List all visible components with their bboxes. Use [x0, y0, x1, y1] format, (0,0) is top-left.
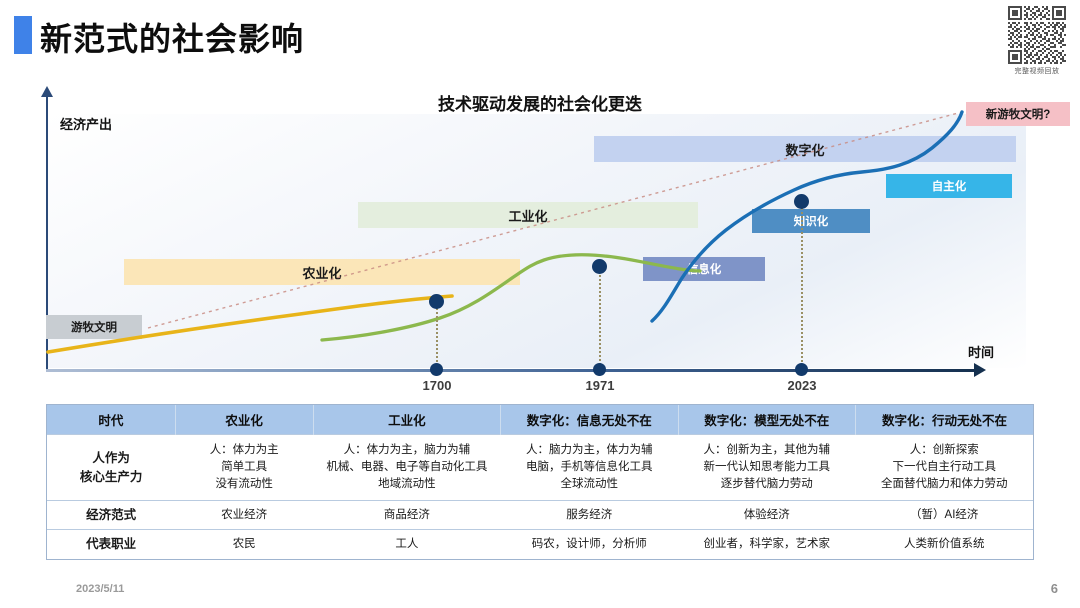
cell-line: 下一代自主行动工具: [858, 459, 1030, 476]
qr-caption: 完整视频回放: [1006, 66, 1068, 76]
table-row: 代表职业 农民 工人 码农，设计师，分析师 创业者，科学家，艺术家 人类新价值系…: [47, 530, 1033, 559]
cell-line: 电脑，手机等信息化工具: [504, 459, 675, 476]
dropper-1971: [599, 266, 601, 369]
table-header-digital-model: 数字化：模型无处不在: [678, 405, 855, 435]
cell-line: 人：体力为主，脑力为辅: [316, 442, 497, 459]
cell-line: 新一代认知思考能力工具: [681, 459, 852, 476]
cell-occupation-digital-info: 码农，设计师，分析师: [501, 530, 678, 559]
curve-dot-2023: [794, 194, 809, 209]
cell-productivity-agriculture: 人：体力为主 简单工具 没有流动性: [175, 435, 313, 501]
table-header-digital-info: 数字化：信息无处不在: [501, 405, 678, 435]
table-header-agriculture: 农业化: [175, 405, 313, 435]
row-label-economic-paradigm: 经济范式: [47, 501, 175, 530]
row-label-line1: 人作为: [50, 449, 172, 467]
cell-paradigm-digital-info: 服务经济: [501, 501, 678, 530]
cell-line: 人：体力为主: [178, 442, 310, 459]
axis-dot-2023[interactable]: [795, 363, 808, 376]
cell-line: 全球流动性: [504, 476, 675, 493]
row-label-representative-occupation: 代表职业: [47, 530, 175, 559]
comparison-table: 时代 农业化 工业化 数字化：信息无处不在 数字化：模型无处不在 数字化：行动无…: [46, 404, 1034, 560]
footer-page-number: 6: [1051, 581, 1058, 596]
cell-line: 人：创新探索: [858, 442, 1030, 459]
footer-divider: [0, 576, 1080, 577]
x-tick-1700: 1700: [423, 378, 452, 393]
cell-productivity-industrial: 人：体力为主，脑力为辅 机械、电器、电子等自动化工具 地域流动性: [313, 435, 500, 501]
axis-dot-1700[interactable]: [430, 363, 443, 376]
curve-dot-1700: [429, 294, 444, 309]
table-header-industrial: 工业化: [313, 405, 500, 435]
cell-occupation-industrial: 工人: [313, 530, 500, 559]
cell-line: 全面替代脑力和体力劳动: [858, 476, 1030, 493]
cell-paradigm-agriculture: 农业经济: [175, 501, 313, 530]
cell-line: 地域流动性: [316, 476, 497, 493]
row-label-line2: 核心生产力: [50, 468, 172, 486]
x-tick-2023: 2023: [788, 378, 817, 393]
page-title: 新范式的社会影响: [40, 14, 304, 60]
cell-line: 人：创新为主，其他为辅: [681, 442, 852, 459]
cell-line: 机械、电器、电子等自动化工具: [316, 459, 497, 476]
cell-line: 没有流动性: [178, 476, 310, 493]
cell-paradigm-industrial: 商品经济: [313, 501, 500, 530]
title-accent-bar: [14, 16, 32, 54]
table-header-row: 时代 农业化 工业化 数字化：信息无处不在 数字化：模型无处不在 数字化：行动无…: [47, 405, 1033, 435]
row-label-core-productivity: 人作为 核心生产力: [47, 435, 175, 501]
cell-line: 人：脑力为主，体力为辅: [504, 442, 675, 459]
cell-line: 简单工具: [178, 459, 310, 476]
cell-occupation-agriculture: 农民: [175, 530, 313, 559]
footer-date: 2023/5/11: [76, 583, 124, 595]
cell-occupation-digital-model: 创业者，科学家，艺术家: [678, 530, 855, 559]
dropper-1700: [436, 301, 438, 369]
dropper-2023: [801, 201, 803, 369]
table-header-era: 时代: [47, 405, 175, 435]
chart-curves: [0, 78, 1080, 398]
cell-productivity-digital-action: 人：创新探索 下一代自主行动工具 全面替代脑力和体力劳动: [855, 435, 1033, 501]
axis-dot-1971[interactable]: [593, 363, 606, 376]
table-row: 经济范式 农业经济 商品经济 服务经济 体验经济 （暂）AI经济: [47, 501, 1033, 530]
cell-paradigm-digital-action: （暂）AI经济: [855, 501, 1033, 530]
x-tick-1971: 1971: [586, 378, 615, 393]
cell-paradigm-digital-model: 体验经济: [678, 501, 855, 530]
cell-line: 逐步替代脑力劳动: [681, 476, 852, 493]
cell-productivity-digital-model: 人：创新为主，其他为辅 新一代认知思考能力工具 逐步替代脑力劳动: [678, 435, 855, 501]
qr-code-icon[interactable]: [1008, 6, 1066, 64]
chart-region: 技术驱动发展的社会化更迭 经济产出 时间 农业化 工业化 数字化 游牧文明 信息…: [0, 78, 1080, 398]
curve-dot-1971: [592, 259, 607, 274]
cell-productivity-digital-info: 人：脑力为主，体力为辅 电脑，手机等信息化工具 全球流动性: [501, 435, 678, 501]
slide-header: 新范式的社会影响: [0, 0, 1080, 70]
qr-block: 完整视频回放: [1006, 6, 1068, 76]
cell-occupation-digital-action: 人类新价值系统: [855, 530, 1033, 559]
table-header-digital-action: 数字化：行动无处不在: [855, 405, 1033, 435]
table-row: 人作为 核心生产力 人：体力为主 简单工具 没有流动性 人：体力为主，脑力为辅 …: [47, 435, 1033, 501]
